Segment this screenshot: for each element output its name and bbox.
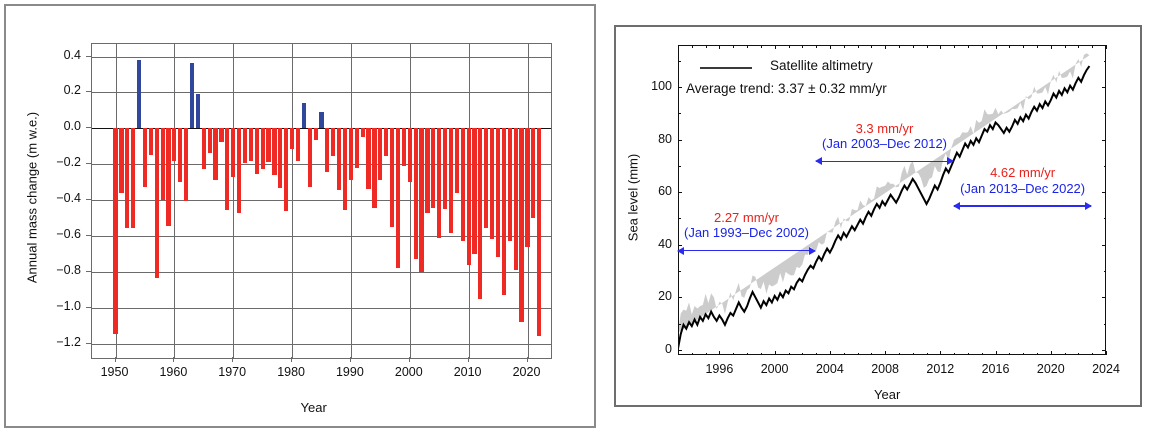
bar-2001 — [414, 128, 418, 259]
y-tick-mark — [86, 91, 91, 92]
bar-1997 — [390, 128, 394, 227]
tick-mark — [1104, 271, 1107, 272]
tick-mark — [899, 353, 900, 356]
figure-container: Annual mass change (m w.e.) 0.40.20.0−0.… — [0, 0, 1158, 438]
panel-annual-mass-change: Annual mass change (m w.e.) 0.40.20.0−0.… — [4, 4, 596, 428]
tick-mark — [968, 353, 969, 356]
tick-mark — [1065, 45, 1066, 48]
tick-mark — [678, 192, 682, 193]
annotation-block-1: 3.3 mm/yr(Jan 2003–Dec 2012) — [795, 121, 975, 152]
bar-1992 — [361, 128, 365, 137]
tick-mark — [927, 45, 928, 48]
x-tick-mark — [409, 357, 410, 362]
tick-mark — [871, 353, 872, 356]
x-tick-2020: 2020 — [1032, 362, 1070, 376]
annotation-span-0: (Jan 1993–Dec 2002) — [657, 225, 837, 240]
panel-b-plot-area: Satellite altimetry Average trend: 3.37 … — [678, 45, 1106, 355]
bar-1987 — [331, 128, 335, 156]
bar-1955 — [143, 128, 147, 186]
bar-1974 — [255, 128, 259, 174]
tick-mark — [830, 45, 831, 49]
bar-1980 — [290, 128, 294, 149]
y-tick-mark — [86, 235, 91, 236]
annotation-arrow-1 — [816, 161, 953, 163]
tick-mark — [678, 271, 681, 272]
tick-mark — [885, 351, 886, 355]
bar-2005 — [437, 128, 441, 238]
bar-1971 — [237, 128, 241, 213]
bar-1961 — [178, 128, 182, 182]
tick-mark — [996, 45, 997, 49]
bar-1981 — [296, 128, 300, 160]
arrowhead-left-icon — [953, 202, 960, 210]
x-tick-mark — [232, 357, 233, 362]
tick-mark — [706, 45, 707, 48]
bar-1950 — [113, 128, 117, 333]
arrowhead-left-icon — [815, 157, 822, 165]
bar-1996 — [384, 128, 388, 156]
bar-2019 — [519, 128, 523, 322]
tick-mark — [954, 45, 955, 48]
bar-1983 — [308, 128, 312, 186]
tick-mark — [816, 45, 817, 48]
tick-mark — [1051, 45, 1052, 49]
x-tick-2008: 2008 — [866, 362, 904, 376]
y-tick-80: 80 — [638, 132, 672, 146]
tick-mark — [1104, 61, 1107, 62]
bar-1959 — [166, 128, 170, 226]
x-tick-2020: 2020 — [508, 365, 546, 379]
bar-2007 — [449, 128, 453, 233]
tick-mark — [1104, 218, 1107, 219]
tick-mark — [692, 353, 693, 356]
annotation-arrow-0 — [678, 250, 815, 252]
bar-1972 — [243, 128, 247, 163]
annotation-rate-2: 4.62 mm/yr — [933, 165, 1113, 180]
tick-mark — [1078, 45, 1079, 48]
tick-mark — [899, 45, 900, 48]
tick-mark — [1092, 353, 1093, 356]
bar-1989 — [343, 128, 347, 210]
arrowhead-left-icon — [677, 247, 684, 255]
bar-2006 — [443, 128, 447, 209]
x-tick-2012: 2012 — [921, 362, 959, 376]
tick-mark — [775, 351, 776, 355]
tick-mark — [733, 45, 734, 48]
tick-mark — [927, 353, 928, 356]
y-tick-−0.4: −0.4 — [35, 191, 81, 205]
bar-1968 — [219, 128, 223, 142]
tick-mark — [1065, 353, 1066, 356]
tick-mark — [706, 353, 707, 356]
tick-mark — [678, 350, 682, 351]
bar-1982 — [302, 103, 306, 128]
x-tick-2004: 2004 — [811, 362, 849, 376]
bar-2012 — [478, 128, 482, 299]
tick-mark — [885, 45, 886, 49]
bar-1991 — [355, 128, 359, 168]
x-tick-mark — [468, 357, 469, 362]
tick-mark — [982, 353, 983, 356]
tick-mark — [844, 45, 845, 48]
x-tick-mark — [173, 357, 174, 362]
annotation-rate-0: 2.27 mm/yr — [657, 210, 837, 225]
bar-2018 — [514, 128, 518, 270]
tick-mark — [954, 353, 955, 356]
legend-line-sample — [700, 67, 752, 69]
panel-a-plot-area — [91, 43, 552, 359]
y-tick-60: 60 — [638, 184, 672, 198]
y-tick-mark — [86, 343, 91, 344]
bar-1951 — [119, 128, 123, 193]
bar-1956 — [149, 128, 153, 155]
bar-2004 — [431, 128, 435, 208]
bar-1998 — [396, 128, 400, 268]
tick-mark — [1009, 45, 1010, 48]
annotation-span-2: (Jan 2013–Dec 2022) — [933, 181, 1113, 196]
y-tick-mark — [86, 163, 91, 164]
bar-1986 — [325, 128, 329, 172]
tick-mark — [789, 353, 790, 356]
y-tick-20: 20 — [638, 289, 672, 303]
tick-mark — [1104, 113, 1107, 114]
x-tick-mark — [350, 357, 351, 362]
arrowhead-right-icon — [1085, 202, 1092, 210]
bar-1966 — [208, 128, 212, 153]
bar-1958 — [161, 128, 165, 200]
x-tick-1960: 1960 — [154, 365, 192, 379]
x-tick-1996: 1996 — [700, 362, 738, 376]
x-tick-1970: 1970 — [213, 365, 251, 379]
bar-2015 — [496, 128, 500, 257]
bar-1960 — [172, 128, 176, 160]
bar-2020 — [525, 128, 529, 246]
bar-2016 — [502, 128, 506, 295]
tick-mark — [678, 166, 681, 167]
bar-1963 — [190, 63, 194, 129]
tick-mark — [1102, 350, 1106, 351]
bar-2008 — [455, 128, 459, 193]
tick-mark — [719, 351, 720, 355]
bar-1973 — [249, 128, 253, 161]
arrowhead-right-icon — [947, 157, 954, 165]
bar-1975 — [261, 128, 265, 168]
tick-mark — [1102, 297, 1106, 298]
bar-1969 — [225, 128, 229, 210]
y-tick-mark — [86, 271, 91, 272]
bar-1954 — [137, 60, 141, 128]
bar-1993 — [366, 128, 370, 189]
tick-mark — [747, 353, 748, 356]
tick-mark — [678, 61, 681, 62]
tick-mark — [1023, 45, 1024, 48]
gridline-vertical — [292, 44, 293, 358]
y-tick-100: 100 — [638, 79, 672, 93]
bar-2009 — [461, 128, 465, 241]
bar-2011 — [472, 128, 476, 254]
bar-1984 — [314, 128, 318, 140]
bar-1985 — [319, 112, 323, 128]
bar-1977 — [272, 128, 276, 175]
tick-mark — [747, 45, 748, 48]
tick-mark — [968, 45, 969, 48]
bar-1978 — [278, 128, 282, 188]
tick-mark — [858, 45, 859, 48]
tick-mark — [1078, 353, 1079, 356]
tick-mark — [940, 351, 941, 355]
y-tick-−0.8: −0.8 — [35, 263, 81, 277]
y-tick-0.0: 0.0 — [35, 119, 81, 133]
bar-1967 — [213, 128, 217, 180]
panel-a-x-axis-title: Year — [301, 400, 327, 415]
tick-mark — [1102, 87, 1106, 88]
x-tick-mark — [291, 357, 292, 362]
tick-mark — [1037, 45, 1038, 48]
y-tick-−1.0: −1.0 — [35, 299, 81, 313]
bar-1995 — [378, 128, 382, 180]
tick-mark — [733, 353, 734, 356]
x-tick-1990: 1990 — [331, 365, 369, 379]
tick-mark — [802, 353, 803, 356]
bar-1965 — [202, 128, 206, 168]
y-tick-mark — [86, 199, 91, 200]
tick-mark — [678, 87, 682, 88]
gridline-vertical — [410, 44, 411, 358]
tick-mark — [1106, 351, 1107, 355]
x-tick-2016: 2016 — [977, 362, 1015, 376]
bar-2021 — [531, 128, 535, 218]
tick-mark — [858, 353, 859, 356]
panel-b-x-axis-title: Year — [874, 387, 900, 402]
y-tick-0: 0 — [638, 342, 672, 356]
tick-mark — [802, 45, 803, 48]
tick-mark — [1023, 353, 1024, 356]
bar-1957 — [155, 128, 159, 278]
x-tick-2024: 2024 — [1087, 362, 1125, 376]
x-tick-mark — [115, 357, 116, 362]
bar-2003 — [425, 128, 429, 212]
tick-mark — [719, 45, 720, 49]
bar-2013 — [484, 128, 488, 228]
gridline-horizontal — [92, 344, 551, 345]
tick-mark — [678, 140, 682, 141]
bar-2000 — [408, 128, 412, 182]
gridline-horizontal — [92, 92, 551, 93]
tick-mark — [871, 45, 872, 48]
tick-mark — [1009, 353, 1010, 356]
y-tick-−0.2: −0.2 — [35, 155, 81, 169]
tick-mark — [692, 45, 693, 48]
tick-mark — [1051, 351, 1052, 355]
tick-mark — [913, 45, 914, 48]
bar-1994 — [372, 128, 376, 208]
panel-sea-level: Sea level (mm) Satellite altimetry Avera… — [614, 25, 1142, 407]
y-tick-mark — [86, 307, 91, 308]
y-tick-−1.2: −1.2 — [35, 335, 81, 349]
tick-mark — [940, 45, 941, 49]
tick-mark — [816, 353, 817, 356]
y-tick-−0.6: −0.6 — [35, 227, 81, 241]
gridline-horizontal — [92, 308, 551, 309]
bar-1988 — [337, 128, 341, 190]
annotation-span-1: (Jan 2003–Dec 2012) — [795, 136, 975, 151]
x-tick-1950: 1950 — [96, 365, 134, 379]
bar-2014 — [490, 128, 494, 239]
bar-1970 — [231, 128, 235, 176]
gridline-horizontal — [92, 57, 551, 58]
x-tick-2000: 2000 — [756, 362, 794, 376]
tick-mark — [678, 324, 681, 325]
tick-mark — [913, 353, 914, 356]
tick-mark — [844, 353, 845, 356]
bar-1979 — [284, 128, 288, 211]
x-tick-2000: 2000 — [390, 365, 428, 379]
tick-mark — [1102, 140, 1106, 141]
legend-label-satellite-altimetry: Satellite altimetry — [770, 58, 873, 73]
tick-mark — [830, 351, 831, 355]
x-tick-mark — [527, 357, 528, 362]
tick-mark — [1102, 245, 1106, 246]
bar-1952 — [125, 128, 129, 228]
annotation-rate-1: 3.3 mm/yr — [795, 121, 975, 136]
y-tick-0.2: 0.2 — [35, 83, 81, 97]
bar-2002 — [419, 128, 423, 272]
y-tick-0.4: 0.4 — [35, 48, 81, 62]
y-tick-40: 40 — [638, 237, 672, 251]
tick-mark — [1037, 353, 1038, 356]
tick-mark — [1092, 45, 1093, 48]
gridline-vertical — [351, 44, 352, 358]
bar-1990 — [349, 128, 353, 180]
bar-1999 — [402, 128, 406, 166]
annotation-block-2: 4.62 mm/yr(Jan 2013–Dec 2022) — [933, 165, 1113, 196]
x-tick-1980: 1980 — [272, 365, 310, 379]
bar-2010 — [467, 128, 471, 264]
bar-1964 — [196, 94, 200, 128]
tick-mark — [775, 45, 776, 49]
tick-mark — [996, 351, 997, 355]
tick-mark — [1106, 45, 1107, 49]
gridline-vertical — [174, 44, 175, 358]
tick-mark — [678, 297, 682, 298]
bar-1953 — [131, 128, 135, 228]
tick-mark — [982, 45, 983, 48]
tick-mark — [789, 45, 790, 48]
y-tick-mark — [86, 56, 91, 57]
tick-mark — [678, 113, 681, 114]
average-trend-note: Average trend: 3.37 ± 0.32 mm/yr — [686, 81, 887, 96]
bar-1962 — [184, 128, 188, 201]
bar-2022 — [537, 128, 541, 336]
bar-2017 — [508, 128, 512, 241]
tick-mark — [761, 353, 762, 356]
y-tick-mark — [86, 127, 91, 128]
annotation-block-0: 2.27 mm/yr(Jan 1993–Dec 2002) — [657, 210, 837, 241]
gridline-vertical — [233, 44, 234, 358]
tick-mark — [761, 45, 762, 48]
arrowhead-right-icon — [809, 247, 816, 255]
annotation-arrow-2 — [954, 205, 1091, 207]
bar-1976 — [266, 128, 270, 162]
x-tick-2010: 2010 — [449, 365, 487, 379]
tick-mark — [1104, 324, 1107, 325]
